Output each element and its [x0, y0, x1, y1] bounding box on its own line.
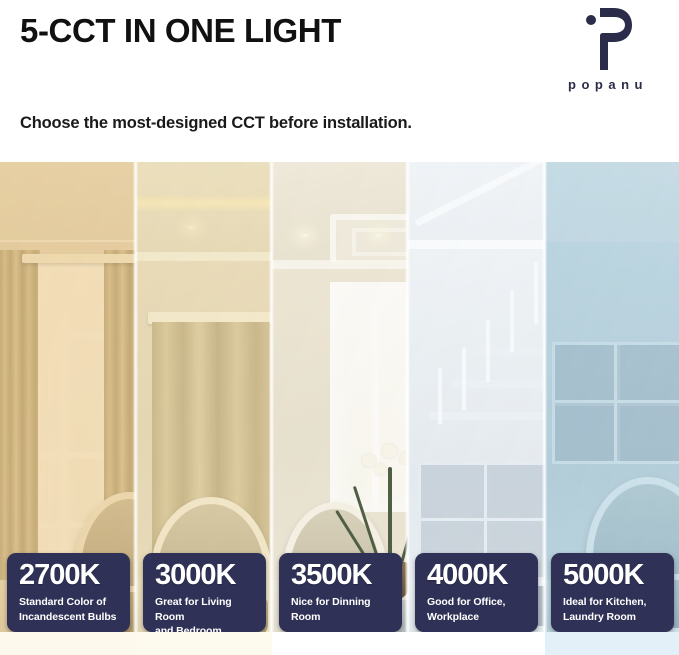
cct-kelvin-value: 3000K	[155, 559, 256, 592]
cct-description-line-1: Standard Color of	[19, 595, 120, 610]
footer-strip	[0, 632, 679, 655]
cct-description-line-2: Room	[291, 610, 392, 625]
cct-kelvin-value: 4000K	[427, 559, 528, 592]
footer-segment-3500k	[272, 632, 408, 655]
cct-description: Great for Living Room and Bedroom	[155, 595, 256, 632]
cct-label-card-2700k[interactable]: 2700K Standard Color of Incandescent Bul…	[7, 553, 130, 632]
header: 5-CCT IN ONE LIGHT Choose the most-desig…	[0, 0, 679, 162]
panel-divider-4	[542, 162, 547, 632]
cct-description: Good for Office, Workplace	[427, 595, 528, 624]
cct-description-line-1: Great for Living Room	[155, 595, 256, 624]
cct-label-card-5000k[interactable]: 5000K Ideal for Kitchen, Laundry Room	[551, 553, 674, 632]
cct-kelvin-value: 3500K	[291, 559, 392, 592]
panel-divider-1	[133, 162, 138, 632]
cct-description-line-1: Ideal for Kitchen,	[563, 595, 664, 610]
panel-divider-2	[269, 162, 274, 632]
footer-segment-3000k	[136, 632, 272, 655]
subtitle: Choose the most-designed CCT before inst…	[20, 114, 412, 133]
cct-description: Ideal for Kitchen, Laundry Room	[563, 595, 664, 624]
brand-wordmark: popanu	[548, 77, 668, 92]
footer-segment-5000k	[545, 632, 679, 655]
popanu-p-logo-icon	[578, 6, 636, 72]
footer-segment-2700k	[0, 632, 136, 655]
panel-divider-3	[405, 162, 410, 632]
cct-label-card-4000k[interactable]: 4000K Good for Office, Workplace	[415, 553, 538, 632]
brand-logo: popanu	[548, 6, 668, 96]
cct-description-line-1: Nice for Dinning	[291, 595, 392, 610]
cct-kelvin-value: 5000K	[563, 559, 664, 592]
cct-label-card-3000k[interactable]: 3000K Great for Living Room and Bedroom	[143, 553, 266, 632]
cct-description-line-2: Laundry Room	[563, 610, 664, 625]
footer-segment-4000k	[408, 632, 545, 655]
cct-description: Nice for Dinning Room	[291, 595, 392, 624]
cct-kelvin-value: 2700K	[19, 559, 120, 592]
page-title: 5-CCT IN ONE LIGHT	[20, 11, 341, 51]
cct-description-line-2: Incandescent Bulbs	[19, 610, 120, 625]
cct-label-card-3500k[interactable]: 3500K Nice for Dinning Room	[279, 553, 402, 632]
cct-description-line-2: and Bedroom	[155, 624, 256, 632]
cct-description: Standard Color of Incandescent Bulbs	[19, 595, 120, 624]
cct-description-line-1: Good for Office,	[427, 595, 528, 610]
cct-description-line-2: Workplace	[427, 610, 528, 625]
cct-comparison-image-strip: 2700K Standard Color of Incandescent Bul…	[0, 162, 679, 632]
